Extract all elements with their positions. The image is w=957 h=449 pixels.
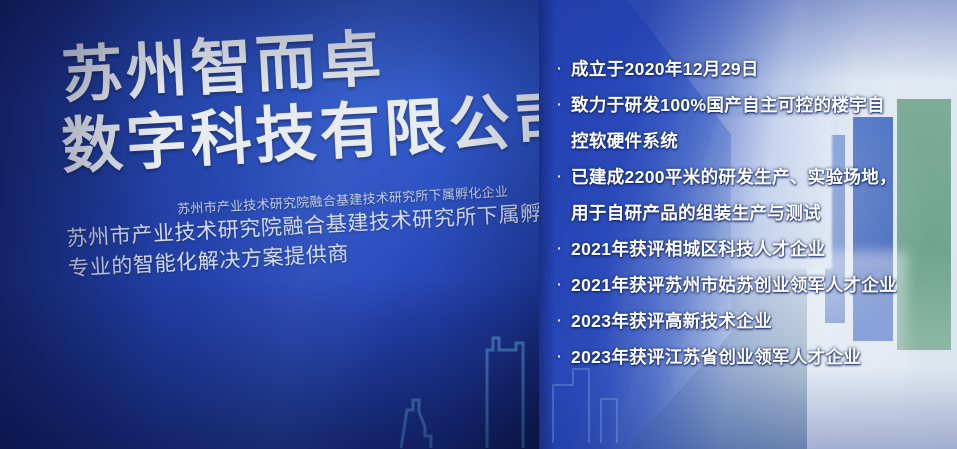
list-item: · 已建成2200平米的研发生产、实验场地， bbox=[547, 160, 951, 194]
list-item: · 2021年获评苏州市姑苏创业领军人才企业 bbox=[547, 268, 951, 302]
bullet-dot-icon: · bbox=[547, 160, 571, 194]
list-item-label: 2021年获评苏州市姑苏创业领军人才企业 bbox=[571, 268, 897, 302]
list-item: · 2023年获评江苏省创业领军人才企业 bbox=[547, 340, 951, 374]
list-item: · 致力于研发100%国产自主可控的楼宇自 bbox=[547, 88, 951, 122]
bullet-dot-icon: · bbox=[547, 304, 571, 338]
list-item: · 2023年获评高新技术企业 bbox=[547, 304, 951, 338]
list-item-continuation: · 控软硬件系统 bbox=[547, 124, 951, 158]
list-item-label: 用于自研产品的组装生产与测试 bbox=[571, 196, 821, 230]
bullet-dot-icon: · bbox=[547, 52, 571, 86]
list-item-label: 成立于2020年12月29日 bbox=[571, 52, 759, 86]
bullet-dot-icon: · bbox=[547, 340, 571, 374]
list-item-label: 2021年获评相城区科技人才企业 bbox=[571, 232, 826, 266]
list-item-label: 已建成2200平米的研发生产、实验场地， bbox=[571, 160, 897, 194]
bullet-dot-icon: · bbox=[547, 88, 571, 122]
highlights-list: · 成立于2020年12月29日 · 致力于研发100%国产自主可控的楼宇自 ·… bbox=[547, 52, 951, 376]
left-brand-panel: 苏州智而卓 数字科技有限公司 苏州市产业技术研究院融合基建技术研究所下属孵化企业… bbox=[0, 0, 539, 449]
list-item: · 成立于2020年12月29日 bbox=[547, 52, 951, 86]
list-item: · 2021年获评相城区科技人才企业 bbox=[547, 232, 951, 266]
list-item-label: 致力于研发100%国产自主可控的楼宇自 bbox=[571, 88, 885, 122]
company-sign: 苏州智而卓 数字科技有限公司 苏州市产业技术研究院融合基建技术研究所下属孵化企业… bbox=[56, 18, 539, 284]
bullet-dot-icon: · bbox=[547, 232, 571, 266]
slide-root: 苏州智而卓 数字科技有限公司 苏州市产业技术研究院融合基建技术研究所下属孵化企业… bbox=[0, 0, 957, 449]
skyline-building-icon bbox=[383, 324, 533, 449]
list-item-label: 2023年获评高新技术企业 bbox=[571, 304, 772, 338]
right-content-panel: · 成立于2020年12月29日 · 致力于研发100%国产自主可控的楼宇自 ·… bbox=[539, 0, 957, 449]
list-item-continuation: · 用于自研产品的组装生产与测试 bbox=[547, 196, 951, 230]
list-item-label: 控软硬件系统 bbox=[571, 124, 678, 158]
bullet-dot-icon: · bbox=[547, 268, 571, 302]
list-item-label: 2023年获评江苏省创业领军人才企业 bbox=[571, 340, 861, 374]
